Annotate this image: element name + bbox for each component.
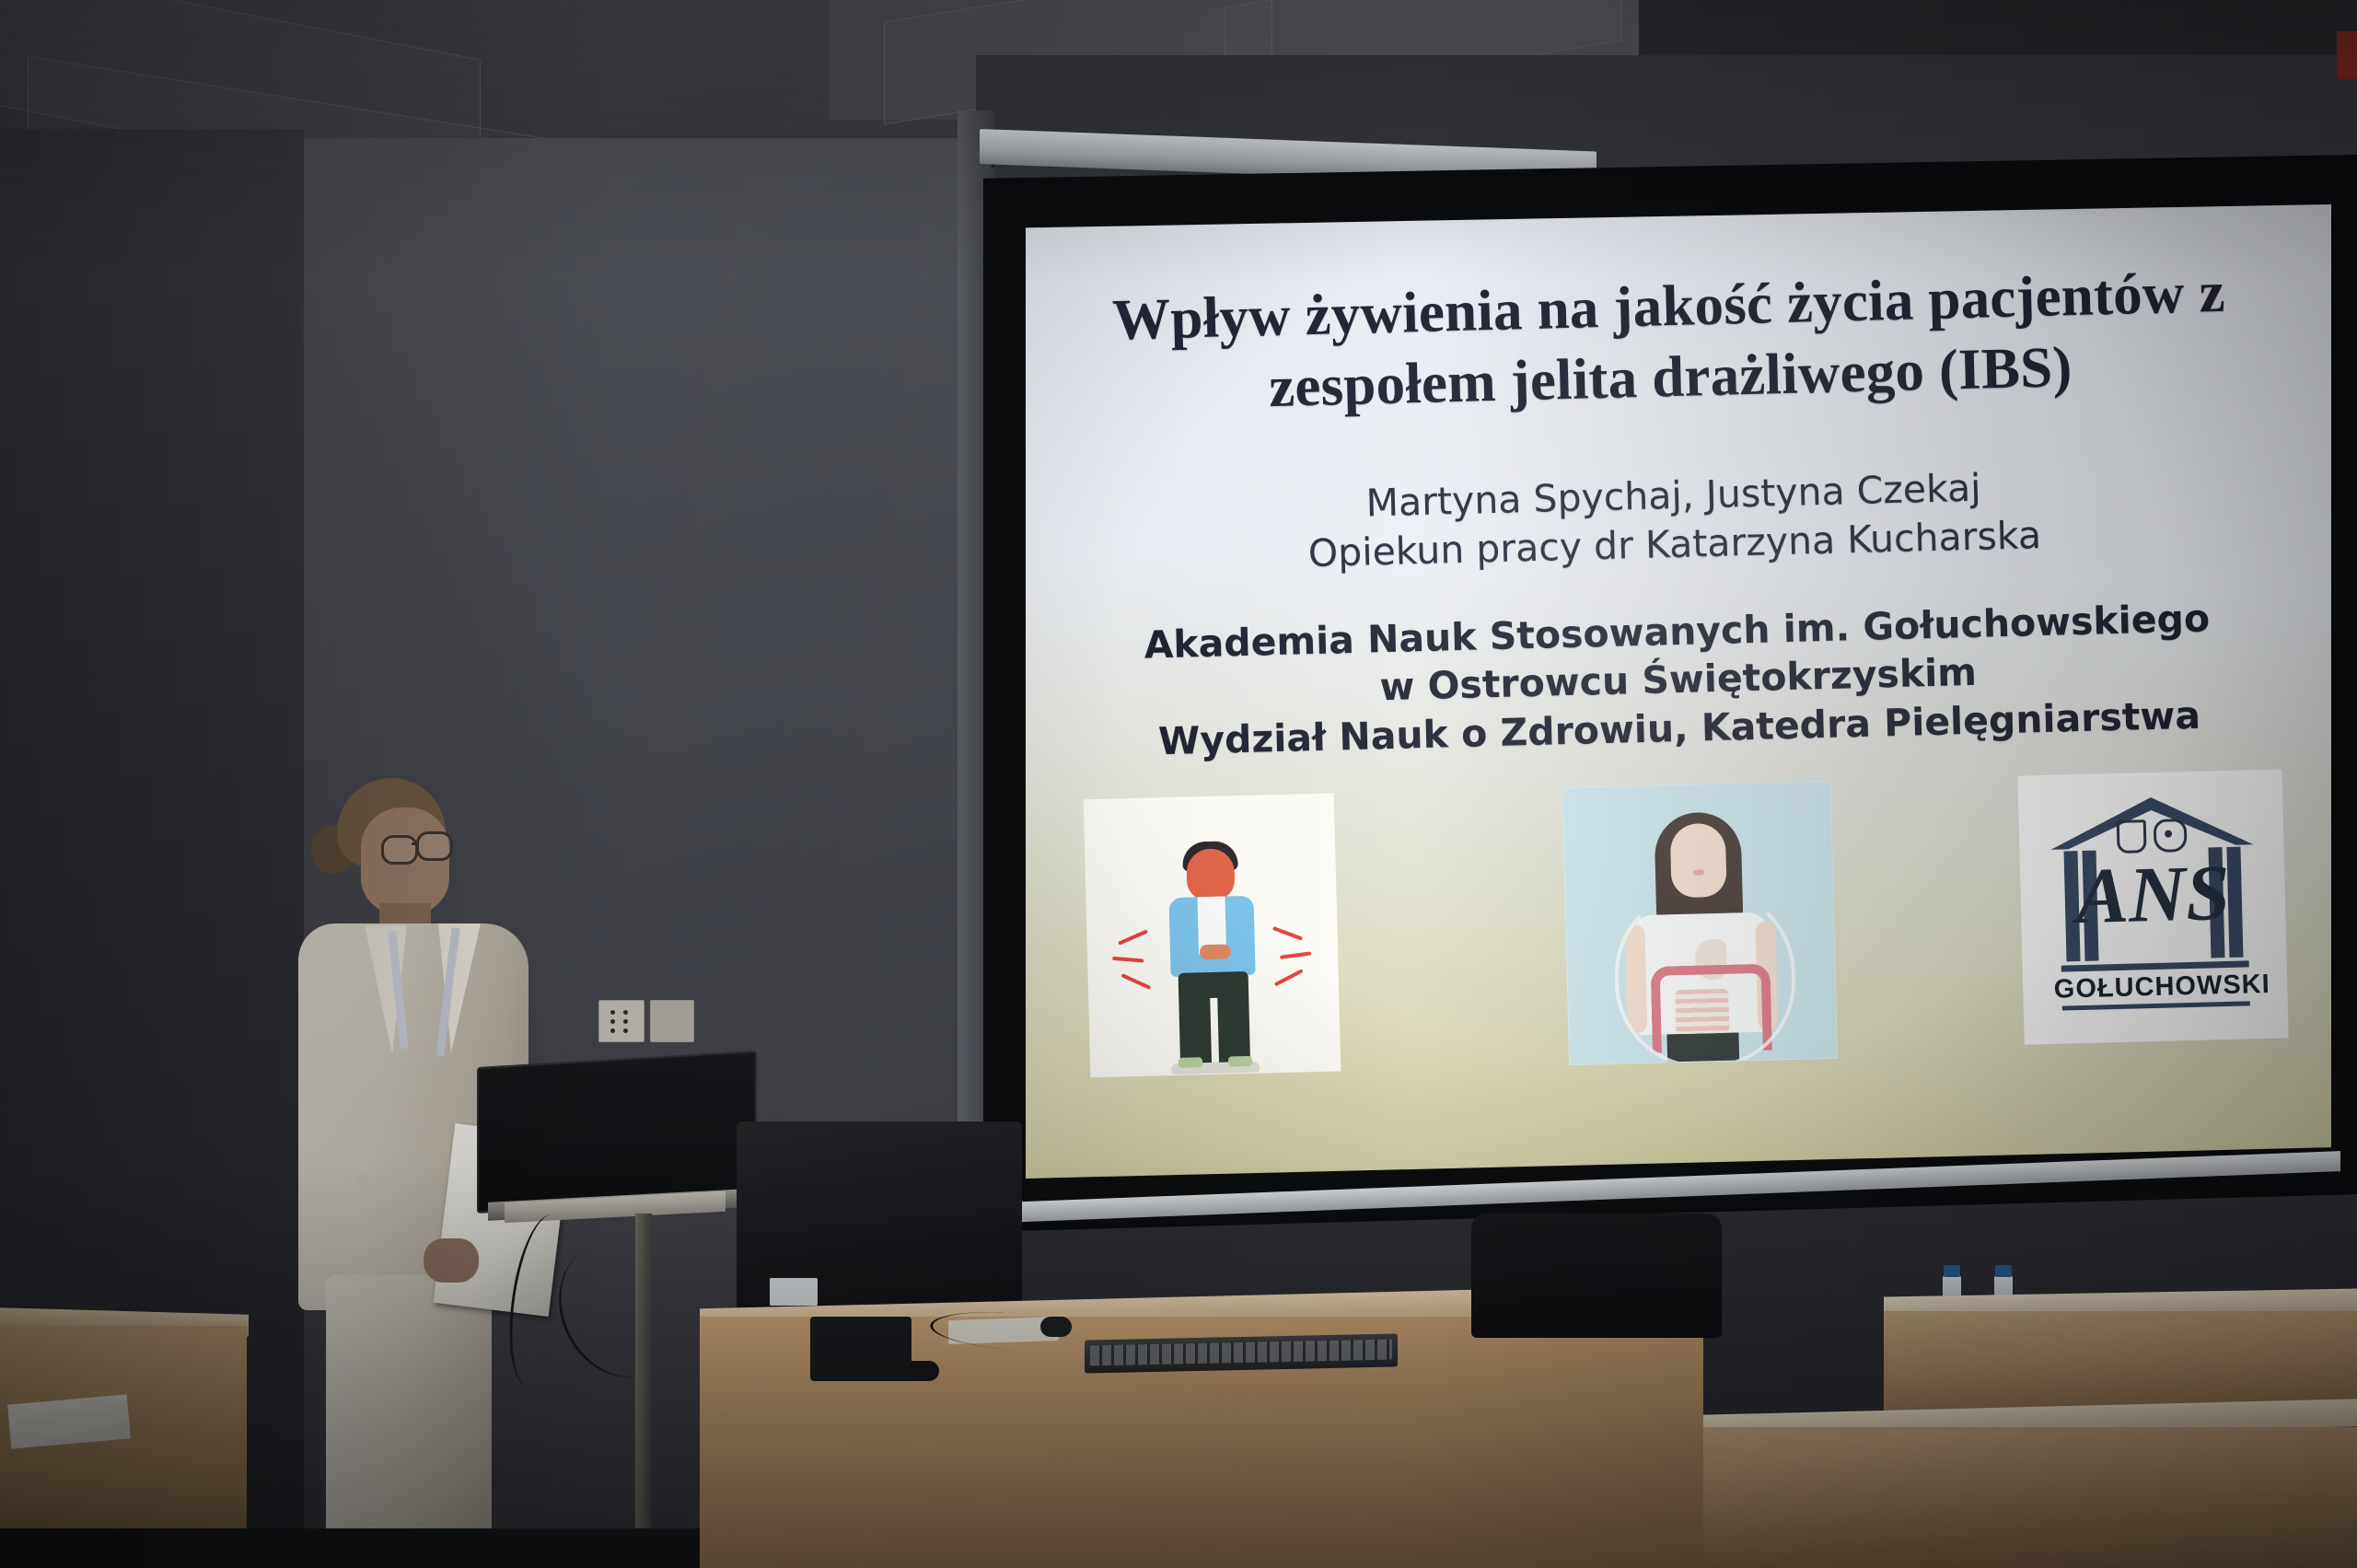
logo-monogram: ANS [2050, 852, 2255, 936]
hand-on-stomach [1200, 944, 1231, 959]
glasses-icon [416, 831, 453, 861]
pain-line-icon [1120, 973, 1151, 990]
logo-graphic: ANS GOŁUCHOWSKI [2049, 795, 2258, 1011]
woman-with-digestive-tract-illustration [1562, 781, 1839, 1065]
pediment-inner-icon [2059, 808, 2244, 854]
shoe-left [1178, 1057, 1202, 1068]
slide: Wpływ żywienia na jakość życia pacjentów… [1026, 204, 2331, 1179]
slide-image-row: ANS GOŁUCHOWSKI [1028, 768, 2331, 1105]
projection-screen-surface: Wpływ żywienia na jakość życia pacjentów… [1026, 204, 2331, 1179]
face-shape [1670, 823, 1727, 898]
shoe-right [1228, 1056, 1252, 1067]
equipment-box [810, 1317, 911, 1381]
slide-title: Wpływ żywienia na jakość życia pacjentów… [1052, 255, 2287, 428]
computer-keyboard[interactable] [1085, 1333, 1398, 1373]
white-trousers [326, 1275, 492, 1568]
pain-line-icon [1280, 951, 1311, 958]
floor [0, 1528, 700, 1568]
glasses-bridge [412, 842, 419, 845]
university-logo: ANS GOŁUCHOWSKI [2017, 769, 2288, 1044]
flask-icon [2116, 819, 2146, 854]
man-with-abdominal-pain-illustration [1084, 794, 1341, 1078]
monitor-label-sticker [770, 1278, 818, 1306]
lecture-hall-photo: Wpływ żywienia na jakość życia pacjentów… [0, 0, 2357, 1568]
atom-icon [2153, 819, 2187, 853]
laptop-screen[interactable] [477, 1051, 757, 1214]
legs-shape [1178, 971, 1250, 1063]
blazer-button [357, 1174, 370, 1187]
bottle-cap [1995, 1265, 2012, 1277]
pain-line-icon [1118, 929, 1148, 945]
chair[interactable] [1471, 1214, 1722, 1338]
pain-line-icon [1272, 926, 1303, 941]
slide-institution: Akademia Nauk Stosowanych im. Gołuchowsk… [1061, 592, 2296, 768]
hand [424, 1238, 479, 1283]
logo-wordmark: GOŁUCHOWSKI [2053, 970, 2257, 1005]
keyboard-keys [1090, 1340, 1392, 1366]
glasses-icon [381, 835, 418, 865]
slide-authors: Martyna Spychaj, Justyna Czekaj Opiekun … [1075, 457, 2272, 585]
pain-line-icon [1112, 957, 1144, 963]
red-edge-artifact [2337, 31, 2357, 79]
highlight-ring [1612, 886, 1797, 1065]
mouth-shape [1693, 869, 1704, 875]
bench-front-lower [1703, 1427, 2357, 1568]
bottle-cap [1944, 1265, 1960, 1277]
pain-line-icon [1274, 969, 1304, 986]
head-shape [1186, 848, 1235, 900]
